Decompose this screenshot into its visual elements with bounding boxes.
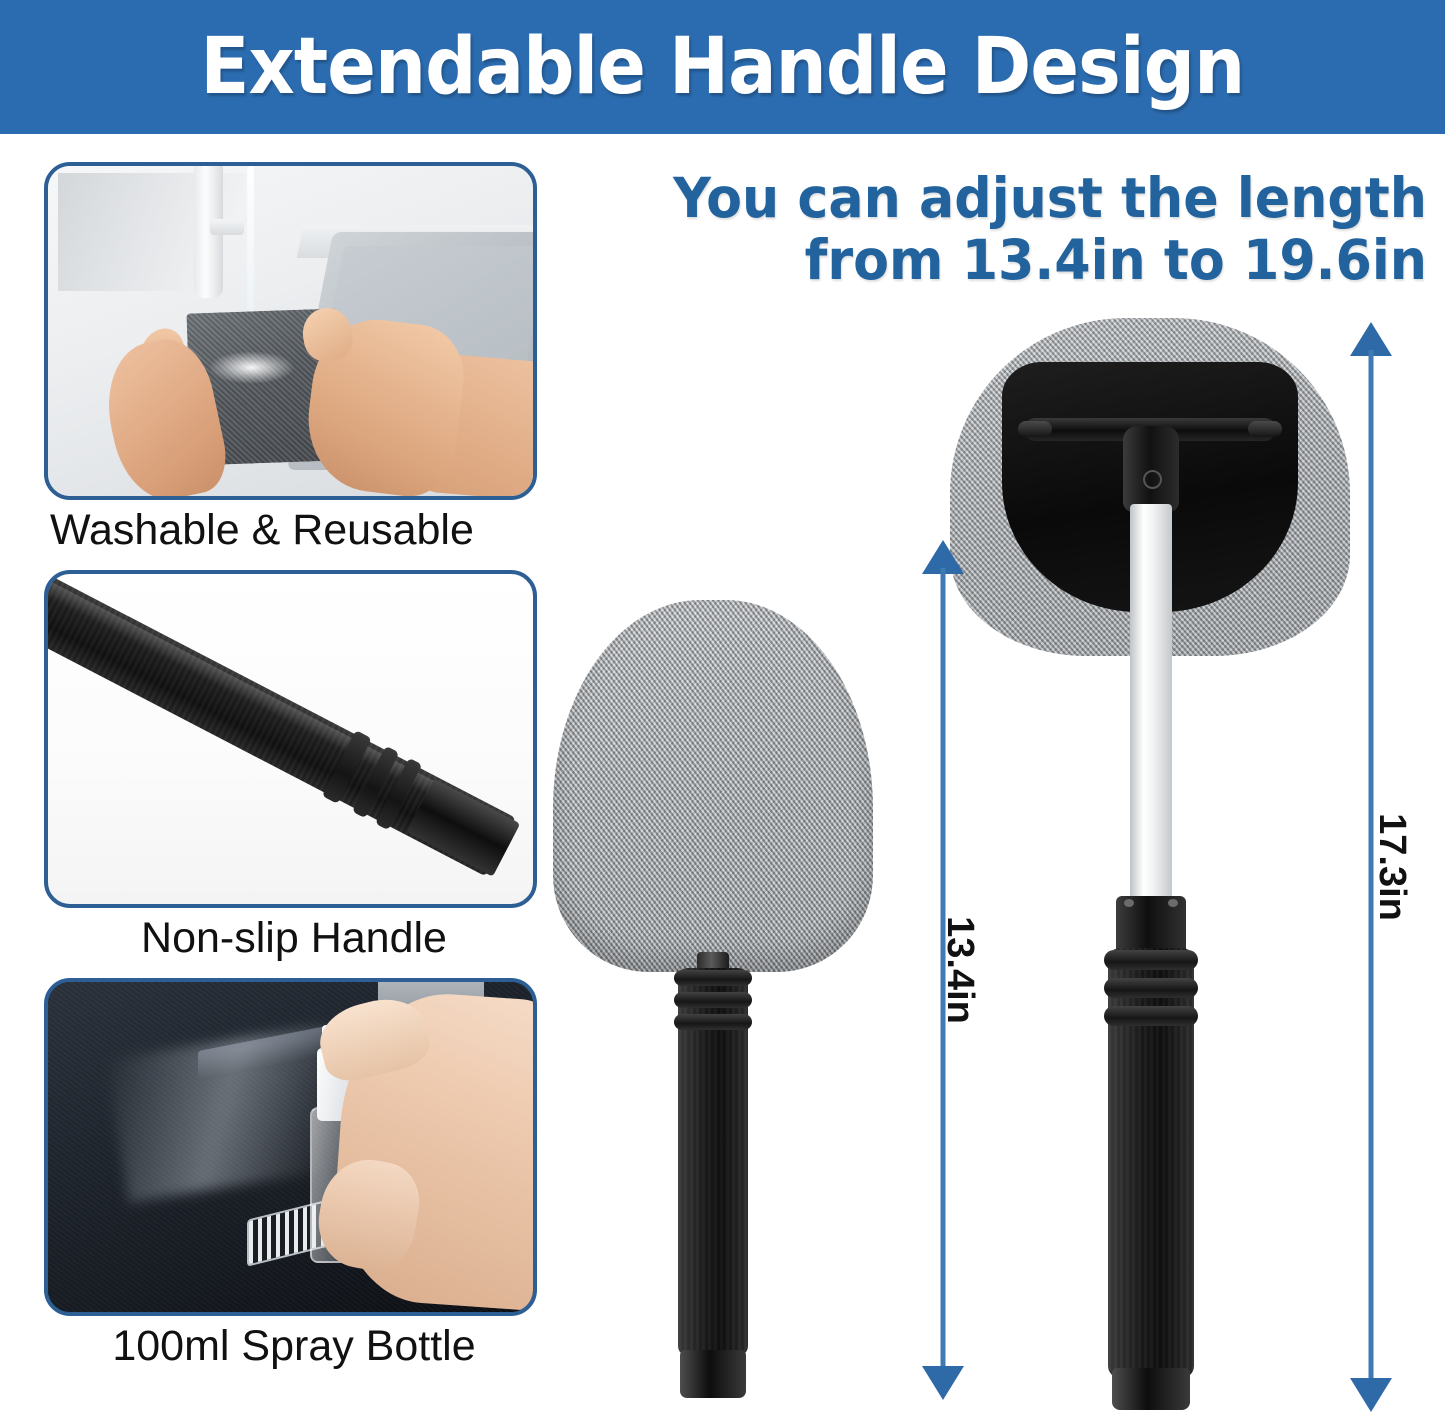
product-retracted	[548, 600, 878, 1410]
handle-rib-group	[44, 570, 517, 877]
faucet-nozzle	[210, 219, 244, 236]
grip-rib	[674, 970, 752, 986]
headline-line-1: You can adjust the length	[639, 168, 1428, 230]
handle-tip	[406, 779, 520, 878]
header-banner: Extendable Handle Design	[0, 0, 1445, 134]
feature-item-washable: Washable & Reusable	[44, 162, 544, 565]
feature-caption-handle: Non-slip Handle	[44, 908, 544, 973]
microfiber-head-retracted	[553, 600, 873, 972]
grip-rib	[1104, 978, 1198, 998]
infographic-page: Extendable Handle Design You can adjust …	[0, 0, 1445, 1422]
page-title: Extendable Handle Design	[201, 22, 1245, 112]
photo-spray-bottle	[44, 978, 537, 1316]
grip-rib	[1104, 1006, 1198, 1026]
feature-list: Washable & Reusable Non-slip Handle	[44, 162, 544, 1386]
grip-rib-group-retracted	[674, 970, 752, 1036]
telescoping-pole	[1130, 504, 1172, 904]
feature-caption-washable: Washable & Reusable	[44, 500, 544, 565]
pivot-joint	[1123, 426, 1179, 512]
grip-rib	[674, 992, 752, 1008]
headline-line-2: from 13.4in to 19.6in	[639, 230, 1428, 292]
photo-foam-handle	[44, 570, 537, 908]
handle-end-cap-extended	[1112, 1368, 1190, 1410]
grip-rib	[1104, 950, 1198, 970]
dimension-arrow-retracted: 13.4in	[908, 540, 978, 1400]
feature-item-spray: 100ml Spray Bottle	[44, 978, 544, 1381]
dimension-label-retracted: 13.4in	[938, 916, 981, 1024]
handle-end-cap-retracted	[680, 1350, 746, 1398]
photo-washing-pad	[44, 162, 537, 500]
arrowhead-down-icon	[922, 1366, 964, 1400]
dimension-arrow-extended: 17.3in	[1336, 322, 1406, 1412]
feature-item-handle: Non-slip Handle	[44, 570, 544, 973]
pivot-button-icon	[1143, 470, 1162, 489]
grip-rib	[674, 1014, 752, 1030]
water-splash	[208, 351, 295, 384]
headline-text: You can adjust the length from 13.4in to…	[639, 168, 1428, 291]
product-extended	[940, 318, 1360, 1410]
grip-rib-group-extended	[1104, 950, 1198, 1036]
feature-caption-spray: 100ml Spray Bottle	[44, 1316, 544, 1381]
arrowhead-down-icon	[1350, 1378, 1392, 1412]
dimension-label-extended: 17.3in	[1370, 813, 1413, 921]
